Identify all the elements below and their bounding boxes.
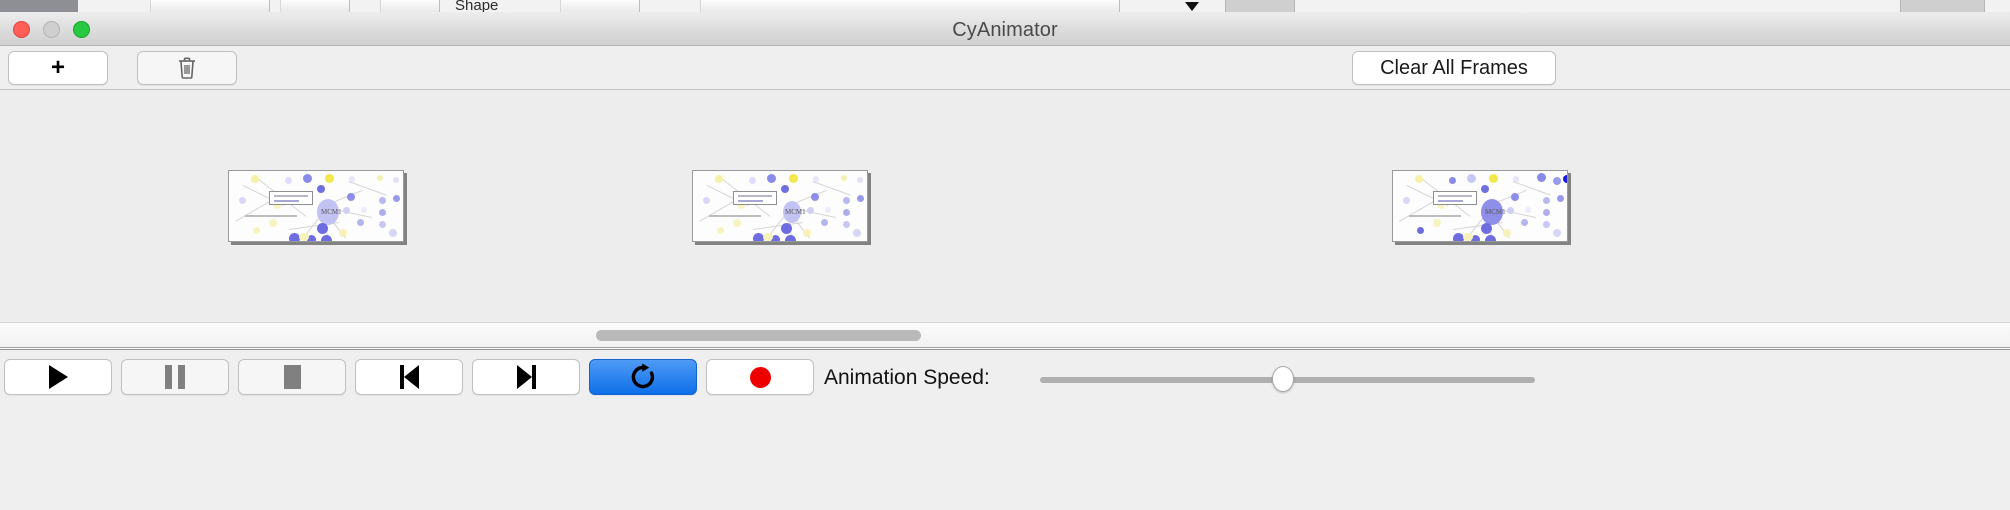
slider-thumb[interactable] [1272, 366, 1294, 392]
background-gray-block [1900, 0, 1985, 12]
skip-to-end-button[interactable] [472, 359, 580, 395]
animation-speed-label: Animation Speed: [824, 366, 990, 390]
playback-control-bar: Animation Speed: [0, 349, 2010, 510]
timeline-scrollbar[interactable] [0, 322, 2010, 348]
tooltip-box [269, 191, 313, 205]
background-menu-label: Shape [455, 0, 498, 12]
pause-button[interactable] [121, 359, 229, 395]
background-segment [700, 0, 1120, 12]
titlebar: CyAnimator [0, 12, 2010, 46]
hub-node-label: MCM1 [321, 208, 342, 216]
keyframe-thumbnail[interactable]: MCM1 [1392, 170, 1568, 242]
background-dark-block [0, 0, 78, 12]
background-segment [380, 0, 440, 12]
play-button[interactable] [4, 359, 112, 395]
record-icon [750, 367, 771, 388]
background-gray-block [1225, 0, 1295, 12]
tooltip-box [1433, 191, 1477, 205]
loop-button[interactable] [589, 359, 697, 395]
keyframe-thumbnail[interactable]: MCM1 [692, 170, 868, 242]
background-segment [150, 0, 270, 12]
toolbar: + Clear All Frames [0, 46, 2010, 90]
skip-start-icon [400, 365, 419, 389]
network-preview: MCM1 [1393, 171, 1567, 241]
network-preview: MCM1 [693, 171, 867, 241]
background-window-strip: Shape [0, 0, 2010, 12]
tooltip-box [733, 191, 777, 205]
background-segment [560, 0, 640, 12]
skip-end-icon [517, 365, 536, 389]
add-frame-button[interactable]: + [8, 51, 108, 85]
animation-speed-slider[interactable] [1040, 376, 1535, 384]
hub-node-label: MCM1 [1485, 208, 1506, 216]
play-icon [49, 365, 68, 389]
network-preview: MCM1 [229, 171, 403, 241]
keyframe-thumbnail[interactable]: MCM1 [228, 170, 404, 242]
background-caret-icon [1185, 2, 1199, 11]
loop-icon [630, 363, 656, 391]
trash-icon [177, 56, 197, 80]
cyanimator-window: Shape CyAnimator + Clear All Frames [0, 0, 2010, 510]
scrollbar-thumb[interactable] [596, 330, 921, 341]
window-title: CyAnimator [0, 19, 2010, 42]
delete-frame-button[interactable] [137, 51, 237, 85]
timeline-panel[interactable]: MCM1 [0, 90, 2010, 322]
stop-button[interactable] [238, 359, 346, 395]
background-segment [280, 0, 350, 12]
skip-to-start-button[interactable] [355, 359, 463, 395]
plus-icon: + [51, 56, 65, 80]
clear-all-frames-button[interactable]: Clear All Frames [1352, 51, 1556, 85]
stop-icon [284, 365, 301, 389]
record-button[interactable] [706, 359, 814, 395]
hub-node-label: MCM1 [785, 208, 806, 216]
pause-icon [165, 365, 185, 389]
